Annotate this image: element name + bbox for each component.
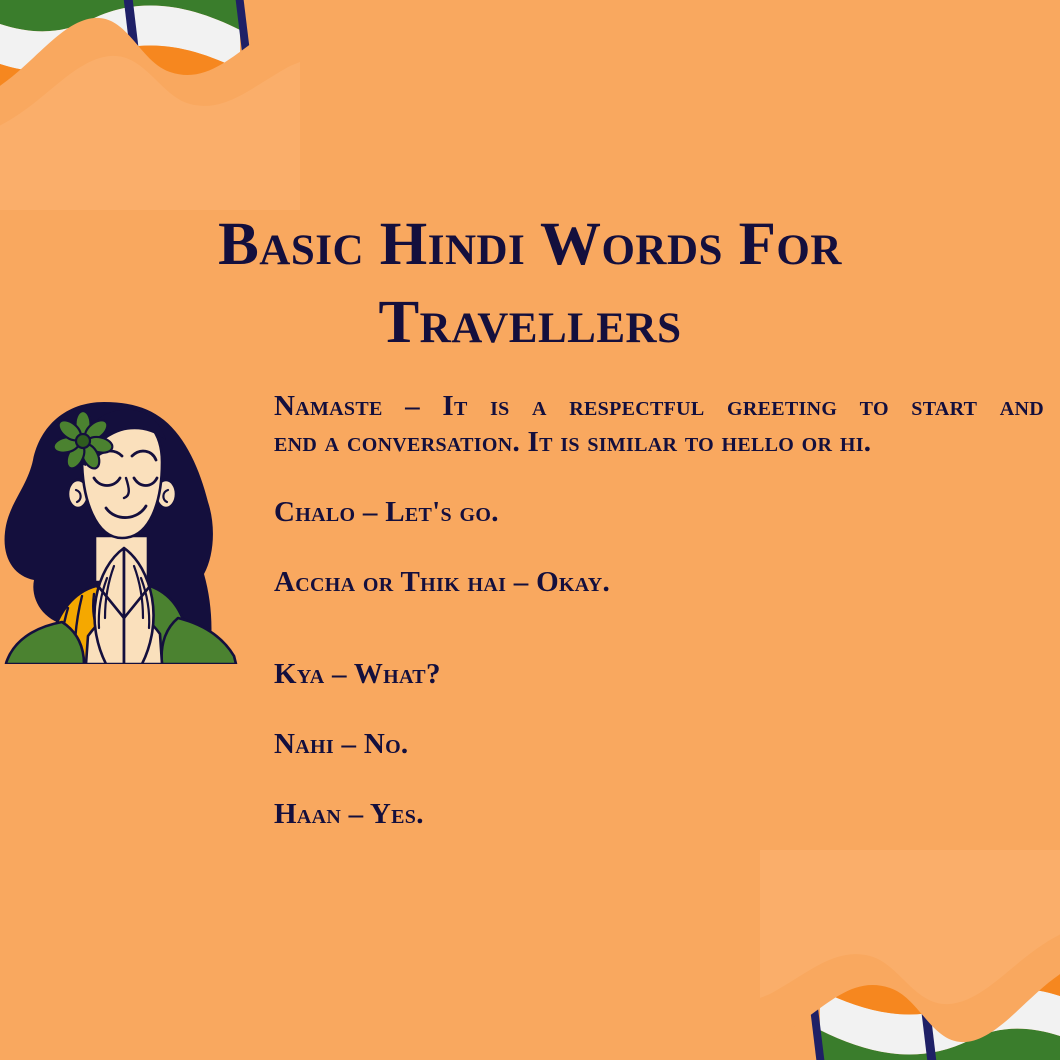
phrase-item-chalo: Chalo – Let's go. <box>274 494 1044 530</box>
top-left-flag-decoration <box>0 0 300 210</box>
spacer <box>274 460 1044 494</box>
spacer <box>274 762 1044 796</box>
bottom-right-flag-decoration <box>760 850 1060 1060</box>
phrase-item-haan: Haan – Yes. <box>274 796 1044 832</box>
phrase-item-kya: Kya – What? <box>274 656 1044 692</box>
phrase-item-accha: Accha or Thik hai – Okay. <box>274 564 1044 600</box>
page-title: Basic Hindi Words For Travellers <box>90 206 970 362</box>
page-title-line-2: Travellers <box>90 284 970 362</box>
spacer <box>274 692 1044 726</box>
spacer <box>274 600 1044 656</box>
spacer <box>274 530 1044 564</box>
page-title-line-1: Basic Hindi Words For <box>90 206 970 284</box>
phrase-item-nahi: Nahi – No. <box>274 726 1044 762</box>
phrase-namaste-line-2: end a conversation. It is similar to hel… <box>274 424 1044 460</box>
phrase-namaste-line-1: Namaste – It is a respectful greeting to… <box>274 390 1044 422</box>
phrase-item-namaste: Namaste – It is a respectful greeting to… <box>274 388 1044 460</box>
phrase-list: Namaste – It is a respectful greeting to… <box>274 388 1044 832</box>
poster-canvas: Basic Hindi Words For Travellers <box>0 0 1060 1060</box>
woman-namaste-illustration <box>0 386 248 664</box>
